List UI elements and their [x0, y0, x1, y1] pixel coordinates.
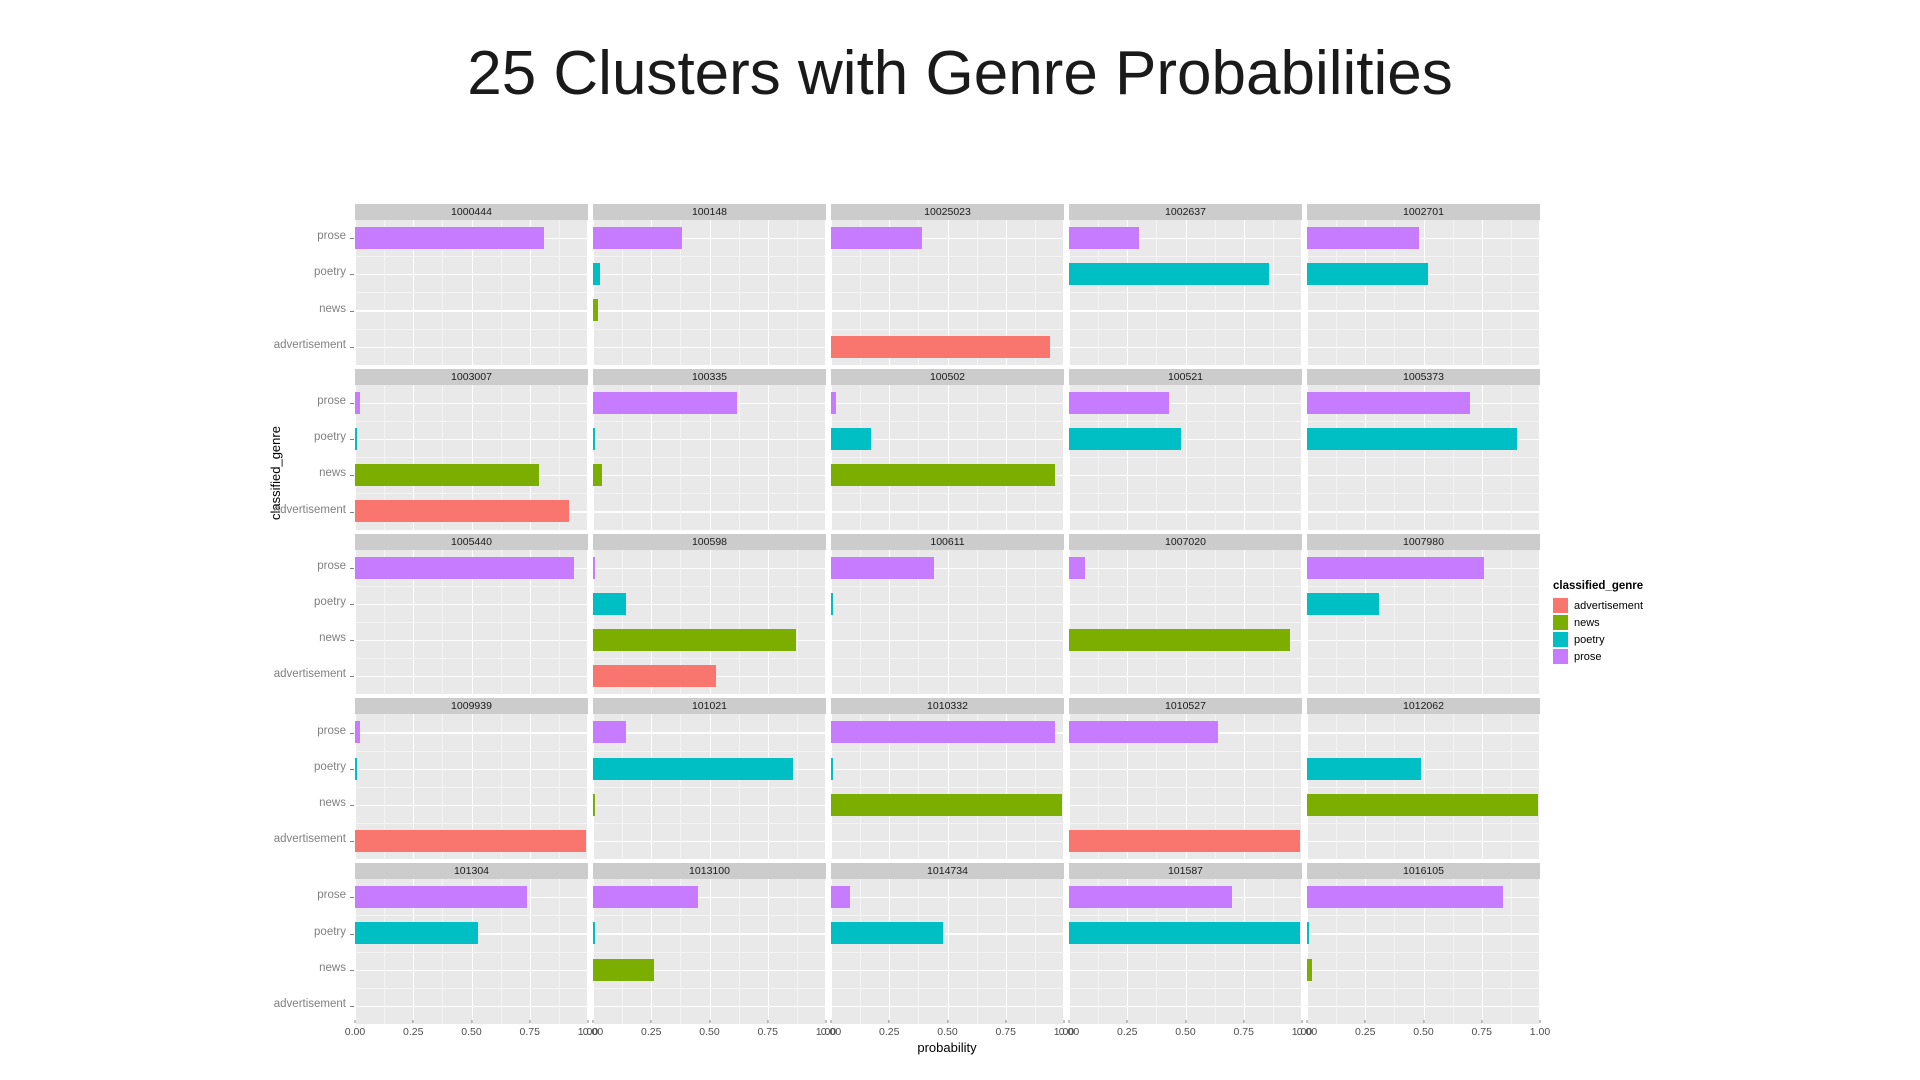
facet: 1010527: [1069, 698, 1302, 859]
x-axis-tick-mark: [413, 1020, 414, 1023]
gridline-major-horizontal: [831, 676, 1064, 677]
gridline-minor-horizontal: [355, 751, 588, 752]
legend-label: advertisement: [1574, 600, 1643, 612]
bar-prose: [355, 227, 544, 249]
facet-strip-label: 100335: [593, 369, 826, 385]
gridline-major-horizontal: [831, 769, 1064, 770]
bar-prose: [831, 392, 836, 414]
gridline-minor-horizontal: [831, 421, 1064, 422]
gridline-minor-horizontal: [831, 329, 1064, 330]
legend-items: advertisementnewspoetryprose: [1553, 597, 1673, 665]
bar-poetry: [593, 922, 595, 944]
gridline-major-horizontal: [355, 439, 588, 440]
x-axis-tick-label: 0.75: [520, 1026, 540, 1038]
facet-panel: [1307, 385, 1540, 530]
x-axis-tick-mark: [1005, 1020, 1006, 1023]
gridline-major-horizontal: [831, 841, 1064, 842]
gridline-major-horizontal: [593, 933, 826, 934]
y-axis-tick-label: advertisement: [0, 833, 346, 845]
gridline-minor-horizontal: [355, 658, 588, 659]
gridline-minor-horizontal: [593, 329, 826, 330]
bar-prose: [831, 721, 1055, 743]
bar-news: [593, 629, 796, 651]
gridline-major-horizontal: [1307, 475, 1540, 476]
gridline-minor-horizontal: [1069, 915, 1302, 916]
gridline-major-horizontal: [1069, 568, 1302, 569]
facet: 1013100: [593, 863, 826, 1024]
legend-item[interactable]: prose: [1553, 648, 1673, 665]
bar-poetry: [355, 428, 357, 450]
legend-swatch-advertisement: [1553, 598, 1568, 613]
gridline-major-horizontal: [355, 310, 588, 311]
gridline-minor-horizontal: [1307, 823, 1540, 824]
y-axis-tick-label: news: [0, 467, 346, 479]
x-axis-tick-label: 0.50: [1413, 1026, 1433, 1038]
gridline-major-horizontal: [1069, 475, 1302, 476]
y-axis-tick-label: advertisement: [0, 339, 346, 351]
gridline-minor-horizontal: [355, 256, 588, 257]
gridline-minor-horizontal: [1307, 256, 1540, 257]
legend-title: classified_genre: [1553, 580, 1673, 592]
x-axis-tick-mark: [1185, 1020, 1186, 1023]
legend-label: news: [1574, 617, 1600, 629]
x-axis-tick-mark: [593, 1020, 594, 1023]
facet-strip-label: 1007020: [1069, 534, 1302, 550]
facet: 101021: [593, 698, 826, 859]
gridline-major-horizontal: [831, 640, 1064, 641]
gridline-major-horizontal: [1307, 970, 1540, 971]
facet-panel: [355, 714, 588, 859]
gridline-major-horizontal: [1307, 511, 1540, 512]
bar-poetry: [831, 593, 833, 615]
x-axis-tick-label: 0.00: [1297, 1026, 1317, 1038]
y-axis-tick-mark: [350, 897, 354, 898]
gridline-minor-horizontal: [1307, 952, 1540, 953]
facet-strip-label: 100148: [593, 204, 826, 220]
facet-panel: [831, 714, 1064, 859]
bar-poetry: [831, 758, 833, 780]
bar-prose: [1069, 721, 1218, 743]
y-axis-tick-mark: [350, 512, 354, 513]
gridline-major-horizontal: [593, 1006, 826, 1007]
gridline-major-horizontal: [593, 475, 826, 476]
bar-prose: [593, 886, 698, 908]
bar-news: [1307, 794, 1538, 816]
gridline-minor-horizontal: [831, 292, 1064, 293]
facet-strip-label: 1005440: [355, 534, 588, 550]
y-axis-tick-mark: [350, 769, 354, 770]
facet-strip-label: 100598: [593, 534, 826, 550]
facet-panel: [831, 550, 1064, 695]
gridline-minor-horizontal: [1069, 823, 1302, 824]
bar-advertisement: [355, 500, 569, 522]
gridline-minor-horizontal: [1307, 915, 1540, 916]
gridline-minor-horizontal: [831, 256, 1064, 257]
x-axis-tick-mark: [826, 1020, 827, 1023]
legend-swatch-poetry: [1553, 632, 1568, 647]
bar-poetry: [355, 758, 357, 780]
bar-poetry: [1069, 263, 1269, 285]
facet-panel: [593, 385, 826, 530]
x-axis-tick-label: 1.00: [1530, 1026, 1550, 1038]
y-axis-tick-label: prose: [0, 230, 346, 242]
gridline-major-horizontal: [1069, 676, 1302, 677]
bar-prose: [593, 557, 595, 579]
gridline-minor-horizontal: [1307, 988, 1540, 989]
bar-poetry: [355, 922, 478, 944]
bar-poetry: [1307, 263, 1428, 285]
bar-poetry: [831, 922, 943, 944]
gridline-major-horizontal: [593, 732, 826, 733]
gridline-minor-horizontal: [1069, 751, 1302, 752]
gridline-minor-horizontal: [355, 915, 588, 916]
gridline-major-horizontal: [1069, 310, 1302, 311]
y-axis-tick-mark: [350, 403, 354, 404]
legend: classified_genre advertisementnewspoetry…: [1553, 580, 1673, 665]
y-axis-tick-mark: [350, 733, 354, 734]
gridline-major-horizontal: [1069, 604, 1302, 605]
gridline-major-horizontal: [831, 604, 1064, 605]
legend-item[interactable]: advertisement: [1553, 597, 1673, 614]
gridline-major-horizontal: [831, 970, 1064, 971]
page-title: 25 Clusters with Genre Probabilities: [0, 38, 1920, 109]
x-axis-tick-label: 0.00: [821, 1026, 841, 1038]
bar-prose: [1069, 227, 1139, 249]
gridline-minor-horizontal: [1307, 586, 1540, 587]
y-axis-tick-mark: [350, 238, 354, 239]
facet-panel: [1307, 879, 1540, 1024]
gridline-major-horizontal: [593, 511, 826, 512]
gridline-minor-horizontal: [593, 421, 826, 422]
bar-news: [1069, 629, 1290, 651]
y-axis-tick-label: poetry: [0, 761, 346, 773]
facet-strip-label: 1002701: [1307, 204, 1540, 220]
gridline-major-horizontal: [355, 732, 588, 733]
facet: 1014734: [831, 863, 1064, 1024]
gridline-minor-horizontal: [831, 952, 1064, 953]
facet-panel: [1069, 550, 1302, 695]
gridline-minor-horizontal: [1069, 622, 1302, 623]
y-axis-tick-label: poetry: [0, 596, 346, 608]
facet-strip-label: 101304: [355, 863, 588, 879]
gridline-minor-horizontal: [1069, 658, 1302, 659]
y-axis-tick-mark: [350, 805, 354, 806]
bar-poetry: [593, 263, 600, 285]
x-axis-tick-label: 0.25: [641, 1026, 661, 1038]
x-axis-tick-mark: [1307, 1020, 1308, 1023]
facet-strip-label: 100502: [831, 369, 1064, 385]
y-axis-tick-mark: [350, 640, 354, 641]
gridline-major-horizontal: [593, 805, 826, 806]
y-axis-tick-label: news: [0, 632, 346, 644]
gridline-minor-horizontal: [831, 988, 1064, 989]
y-axis-tick-mark: [350, 439, 354, 440]
facet: 101304: [355, 863, 588, 1024]
y-axis-tick-mark: [350, 274, 354, 275]
chart-page: 25 Clusters with Genre Probabilities cla…: [0, 0, 1920, 1080]
gridline-major-horizontal: [1307, 676, 1540, 677]
x-axis-tick-mark: [471, 1020, 472, 1023]
facet: 1016105: [1307, 863, 1540, 1024]
bar-poetry: [1307, 758, 1421, 780]
gridline-minor-horizontal: [1069, 586, 1302, 587]
y-axis-tick-mark: [350, 1006, 354, 1007]
facet-strip-label: 1013100: [593, 863, 826, 879]
facet-strip-label: 1002637: [1069, 204, 1302, 220]
gridline-minor-horizontal: [1307, 658, 1540, 659]
gridline-minor-horizontal: [1307, 787, 1540, 788]
facet: 100148: [593, 204, 826, 365]
gridline-major-horizontal: [355, 769, 588, 770]
gridline-major-horizontal: [1069, 805, 1302, 806]
gridline-minor-horizontal: [831, 823, 1064, 824]
bar-prose: [1069, 392, 1169, 414]
gridline-minor-horizontal: [355, 586, 588, 587]
legend-swatch-news: [1553, 615, 1568, 630]
gridline-minor-horizontal: [593, 915, 826, 916]
facet: 100502: [831, 369, 1064, 530]
gridline-major-horizontal: [1069, 769, 1302, 770]
gridline-major-horizontal: [1307, 347, 1540, 348]
gridline-minor-horizontal: [593, 493, 826, 494]
facet-grid: 1000444100148100250231002637100270110030…: [355, 204, 1540, 1024]
x-axis-tick-label: 0.75: [1234, 1026, 1254, 1038]
facet-panel: [831, 385, 1064, 530]
y-axis-tick-label: prose: [0, 395, 346, 407]
gridline-minor-horizontal: [1307, 329, 1540, 330]
facet: 1005373: [1307, 369, 1540, 530]
facet: 1012062: [1307, 698, 1540, 859]
bar-advertisement: [1069, 830, 1300, 852]
facet-strip-label: 101587: [1069, 863, 1302, 879]
gridline-minor-horizontal: [355, 421, 588, 422]
y-axis-tick-mark: [350, 475, 354, 476]
facet-panel: [355, 385, 588, 530]
x-axis-tick-label: 0.25: [879, 1026, 899, 1038]
facet: 1007020: [1069, 534, 1302, 695]
gridline-minor-horizontal: [593, 457, 826, 458]
gridline-minor-horizontal: [593, 988, 826, 989]
gridline-minor-horizontal: [831, 586, 1064, 587]
bar-prose: [355, 557, 574, 579]
x-axis-tick-mark: [767, 1020, 768, 1023]
x-axis-tick-label: 0.00: [345, 1026, 365, 1038]
y-axis-tick-label: poetry: [0, 431, 346, 443]
gridline-minor-horizontal: [831, 915, 1064, 916]
gridline-minor-horizontal: [1307, 622, 1540, 623]
gridline-minor-horizontal: [831, 787, 1064, 788]
gridline-minor-horizontal: [355, 292, 588, 293]
gridline-minor-horizontal: [355, 622, 588, 623]
y-axis-tick-mark: [350, 841, 354, 842]
gridline-major-horizontal: [355, 274, 588, 275]
x-axis-tick-label: 0.50: [699, 1026, 719, 1038]
bar-poetry: [593, 428, 595, 450]
facet-panel: [831, 220, 1064, 365]
y-axis-tick-label: news: [0, 962, 346, 974]
gridline-minor-horizontal: [831, 457, 1064, 458]
y-axis-tick-label: poetry: [0, 266, 346, 278]
gridline-major-horizontal: [831, 403, 1064, 404]
gridline-minor-horizontal: [593, 787, 826, 788]
facet: 1000444: [355, 204, 588, 365]
bar-news: [593, 959, 654, 981]
y-axis-tick-label: prose: [0, 889, 346, 901]
facet: 10025023: [831, 204, 1064, 365]
gridline-major-horizontal: [831, 897, 1064, 898]
x-axis-title-text: probability: [917, 1040, 976, 1055]
gridline-minor-horizontal: [1307, 493, 1540, 494]
gridline-minor-horizontal: [1069, 421, 1302, 422]
gridline-minor-horizontal: [1069, 952, 1302, 953]
gridline-minor-horizontal: [355, 493, 588, 494]
gridline-minor-horizontal: [593, 751, 826, 752]
bar-prose: [355, 392, 360, 414]
gridline-major-horizontal: [1307, 1006, 1540, 1007]
y-axis-tick-label: poetry: [0, 926, 346, 938]
bar-poetry: [1307, 593, 1379, 615]
facet-strip-label: 1007980: [1307, 534, 1540, 550]
gridline-minor-horizontal: [593, 952, 826, 953]
gridline-minor-horizontal: [355, 329, 588, 330]
x-axis-tick-mark: [831, 1020, 832, 1023]
y-axis-tick-mark: [350, 970, 354, 971]
bar-poetry: [831, 428, 871, 450]
bar-news: [831, 794, 1062, 816]
gridline-minor-horizontal: [593, 823, 826, 824]
facet: 100598: [593, 534, 826, 695]
bar-poetry: [1069, 922, 1300, 944]
facet-strip-label: 1003007: [355, 369, 588, 385]
bar-prose: [1307, 392, 1470, 414]
x-axis-tick-mark: [1481, 1020, 1482, 1023]
bar-prose: [593, 721, 626, 743]
bar-news: [593, 299, 598, 321]
gridline-minor-horizontal: [355, 787, 588, 788]
x-axis-tick-label: 0.00: [1059, 1026, 1079, 1038]
gridline-major-horizontal: [355, 1006, 588, 1007]
gridline-major-horizontal: [831, 511, 1064, 512]
facet-strip-label: 1010527: [1069, 698, 1302, 714]
legend-label: prose: [1574, 651, 1602, 663]
x-axis-tick-label: 0.50: [937, 1026, 957, 1038]
y-axis-tick-label: news: [0, 797, 346, 809]
gridline-major-horizontal: [1307, 732, 1540, 733]
facet: 1007980: [1307, 534, 1540, 695]
facet: 1002701: [1307, 204, 1540, 365]
facet: 1002637: [1069, 204, 1302, 365]
x-axis-tick-mark: [1365, 1020, 1366, 1023]
facet-strip-label: 1014734: [831, 863, 1064, 879]
gridline-minor-horizontal: [593, 256, 826, 257]
x-axis-tick-mark: [709, 1020, 710, 1023]
facet-strip-label: 10025023: [831, 204, 1064, 220]
x-axis-title: probability: [0, 1040, 1920, 1055]
facet-strip-label: 1009939: [355, 698, 588, 714]
x-axis-tick-label: 0.25: [403, 1026, 423, 1038]
plot-area: 1000444100148100250231002637100270110030…: [355, 204, 1540, 1024]
facet: 1005440: [355, 534, 588, 695]
facet-strip-label: 1016105: [1307, 863, 1540, 879]
facet-panel: [593, 714, 826, 859]
gridline-major-horizontal: [831, 274, 1064, 275]
facet: 1009939: [355, 698, 588, 859]
gridline-minor-horizontal: [1069, 988, 1302, 989]
x-axis-tick-label: 0.75: [1472, 1026, 1492, 1038]
y-axis-tick-mark: [350, 604, 354, 605]
x-axis-tick-label: 0.25: [1355, 1026, 1375, 1038]
y-axis-tick-label: prose: [0, 560, 346, 572]
x-axis-tick-mark: [651, 1020, 652, 1023]
bar-news: [355, 464, 539, 486]
gridline-minor-horizontal: [593, 292, 826, 293]
gridline-major-horizontal: [355, 676, 588, 677]
facet-strip-label: 100611: [831, 534, 1064, 550]
gridline-minor-horizontal: [355, 988, 588, 989]
bar-poetry: [1307, 428, 1517, 450]
gridline-major-horizontal: [355, 403, 588, 404]
facet-strip-label: 101021: [593, 698, 826, 714]
bar-prose: [831, 886, 850, 908]
facet-panel: [355, 220, 588, 365]
gridline-minor-horizontal: [1069, 457, 1302, 458]
gridline-minor-horizontal: [593, 586, 826, 587]
gridline-minor-horizontal: [1069, 329, 1302, 330]
gridline-major-horizontal: [593, 841, 826, 842]
x-axis-tick-mark: [355, 1020, 356, 1023]
x-axis-tick-mark: [1423, 1020, 1424, 1023]
gridline-major-horizontal: [593, 439, 826, 440]
gridline-major-horizontal: [831, 1006, 1064, 1007]
gridline-minor-horizontal: [355, 823, 588, 824]
gridline-major-horizontal: [593, 604, 826, 605]
facet-strip-label: 1012062: [1307, 698, 1540, 714]
gridline-major-horizontal: [1307, 841, 1540, 842]
gridline-major-horizontal: [593, 310, 826, 311]
x-axis-tick-mark: [947, 1020, 948, 1023]
gridline-minor-horizontal: [1069, 493, 1302, 494]
legend-item[interactable]: news: [1553, 614, 1673, 631]
x-axis-tick-mark: [1302, 1020, 1303, 1023]
x-axis-tick-mark: [889, 1020, 890, 1023]
gridline-major-horizontal: [1069, 347, 1302, 348]
x-axis-tick-mark: [1127, 1020, 1128, 1023]
facet-strip-label: 1010332: [831, 698, 1064, 714]
x-axis-tick-mark: [1064, 1020, 1065, 1023]
gridline-major-horizontal: [1307, 310, 1540, 311]
y-axis-tick-label: prose: [0, 725, 346, 737]
x-axis-tick-mark: [588, 1020, 589, 1023]
gridline-major-horizontal: [593, 347, 826, 348]
bar-prose: [831, 227, 922, 249]
facet-panel: [593, 220, 826, 365]
gridline-major-horizontal: [593, 568, 826, 569]
facet-panel: [355, 879, 588, 1024]
gridline-minor-horizontal: [1307, 292, 1540, 293]
legend-item[interactable]: poetry: [1553, 631, 1673, 648]
bar-prose: [593, 227, 682, 249]
facet: 100335: [593, 369, 826, 530]
gridline-minor-horizontal: [593, 622, 826, 623]
gridline-major-horizontal: [1069, 970, 1302, 971]
gridline-minor-horizontal: [831, 751, 1064, 752]
gridline-minor-horizontal: [355, 952, 588, 953]
gridline-major-horizontal: [593, 274, 826, 275]
gridline-minor-horizontal: [831, 493, 1064, 494]
bar-poetry: [593, 758, 793, 780]
gridline-minor-horizontal: [1307, 421, 1540, 422]
bar-prose: [1307, 557, 1484, 579]
